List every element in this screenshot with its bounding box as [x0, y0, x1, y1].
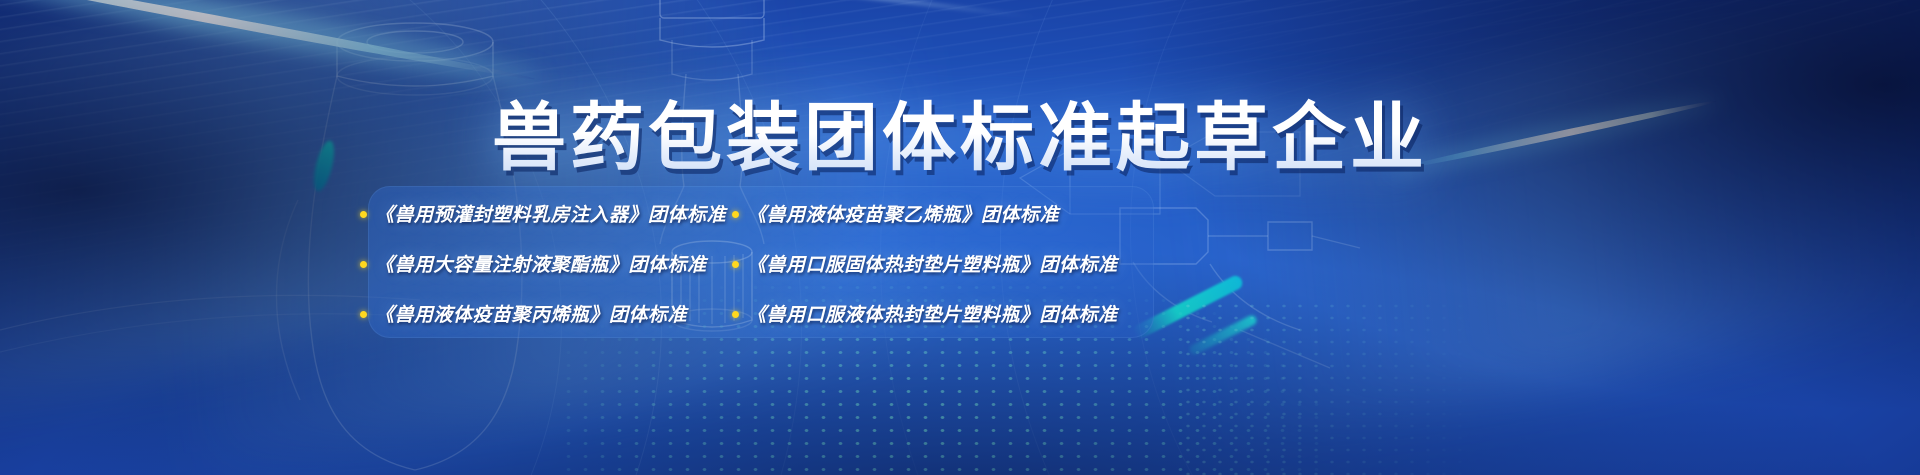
standard-label: 《兽用液体疫苗聚丙烯瓶》团体标准 [375, 300, 687, 327]
standard-label: 《兽用口服固体热封垫片塑料瓶》团体标准 [747, 250, 1118, 277]
bullet-dot-icon [360, 261, 367, 268]
list-item: 《兽用预灌封塑料乳房注入器》团体标准 [360, 200, 732, 227]
bullet-dot-icon [732, 211, 739, 218]
list-item: 《兽用液体疫苗聚丙烯瓶》团体标准 [360, 300, 732, 327]
list-item: 《兽用口服液体热封垫片塑料瓶》团体标准 [732, 300, 1180, 327]
promo-banner: 兽药包装团体标准起草企业 《兽用预灌封塑料乳房注入器》团体标准 《兽用液体疫苗聚… [0, 0, 1920, 475]
bullet-dot-icon [732, 261, 739, 268]
bullet-dot-icon [360, 211, 367, 218]
standard-label: 《兽用预灌封塑料乳房注入器》团体标准 [375, 200, 726, 227]
bullet-dot-icon [732, 311, 739, 318]
standard-label: 《兽用大容量注射液聚酯瓶》团体标准 [375, 250, 707, 277]
bullet-dot-icon [360, 311, 367, 318]
list-item: 《兽用液体疫苗聚乙烯瓶》团体标准 [732, 200, 1180, 227]
standard-label: 《兽用口服液体热封垫片塑料瓶》团体标准 [747, 300, 1118, 327]
list-item: 《兽用口服固体热封垫片塑料瓶》团体标准 [732, 250, 1180, 277]
standard-label: 《兽用液体疫苗聚乙烯瓶》团体标准 [747, 200, 1059, 227]
standards-list: 《兽用预灌封塑料乳房注入器》团体标准 《兽用液体疫苗聚乙烯瓶》团体标准 《兽用大… [360, 188, 1180, 338]
list-item: 《兽用大容量注射液聚酯瓶》团体标准 [360, 250, 732, 277]
banner-title: 兽药包装团体标准起草企业 [0, 78, 1920, 185]
